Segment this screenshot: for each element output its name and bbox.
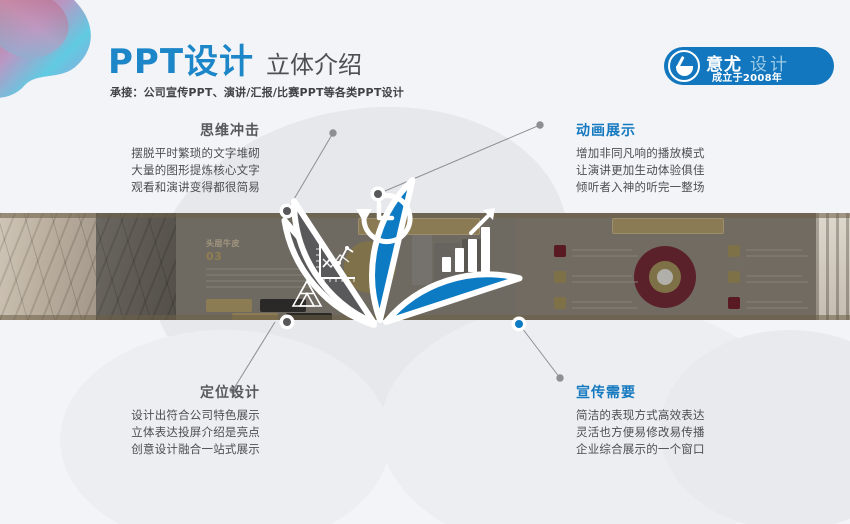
callout-line: 创意设计融合一站式展示 <box>60 441 260 458</box>
callout-positioning-design: 定位设计 设计出符合公司特色展示 立体表达投屏介绍是亮点 创意设计融合一站式展示 <box>60 382 260 458</box>
callout-line: 灵活也方便易修改易传播 <box>576 424 776 441</box>
callout-line: 摆脱平时繁琐的文字堆砌 <box>60 145 260 162</box>
callout-heading: 思维冲击 <box>60 120 260 140</box>
callout-line: 设计出符合公司特色展示 <box>60 407 260 424</box>
callout-line: 观看和演讲变得都很简易 <box>60 179 260 196</box>
callout-thinking-impact: 思维冲击 摆脱平时繁琐的文字堆砌 大量的图形提炼核心文字 观看和演讲变得都很简易 <box>60 120 260 196</box>
wheel-segment-4[interactable] <box>384 273 520 322</box>
callout-heading: 动画展示 <box>576 120 776 140</box>
callout-heading: 定位设计 <box>60 382 260 402</box>
callout-line: 倾听者入神的听完一整场 <box>576 179 776 196</box>
callout-line: 让演讲更加生动体验俱佳 <box>576 162 776 179</box>
callout-animation-display: 动画展示 增加非同凡响的播放模式 让演讲更加生动体验俱佳 倾听者入神的听完一整场 <box>576 120 776 196</box>
callout-line: 简洁的表现方式高效表达 <box>576 407 776 424</box>
bar-chart-growth-icon <box>442 208 495 272</box>
callout-promotion-need: 宣传需要 简洁的表现方式高效表达 灵活也方便易修改易传播 企业综合展示的一个窗口 <box>576 382 776 458</box>
callout-line: 立体表达投屏介绍是亮点 <box>60 424 260 441</box>
segmented-semicircle-chart <box>243 163 543 338</box>
callout-line: 大量的图形提炼核心文字 <box>60 162 260 179</box>
slide-canvas: 头层牛皮 03 <box>0 0 850 524</box>
callout-line: 增加非同凡响的播放模式 <box>576 145 776 162</box>
callout-line: 企业综合展示的一个窗口 <box>576 441 776 458</box>
callout-heading: 宣传需要 <box>576 382 776 402</box>
